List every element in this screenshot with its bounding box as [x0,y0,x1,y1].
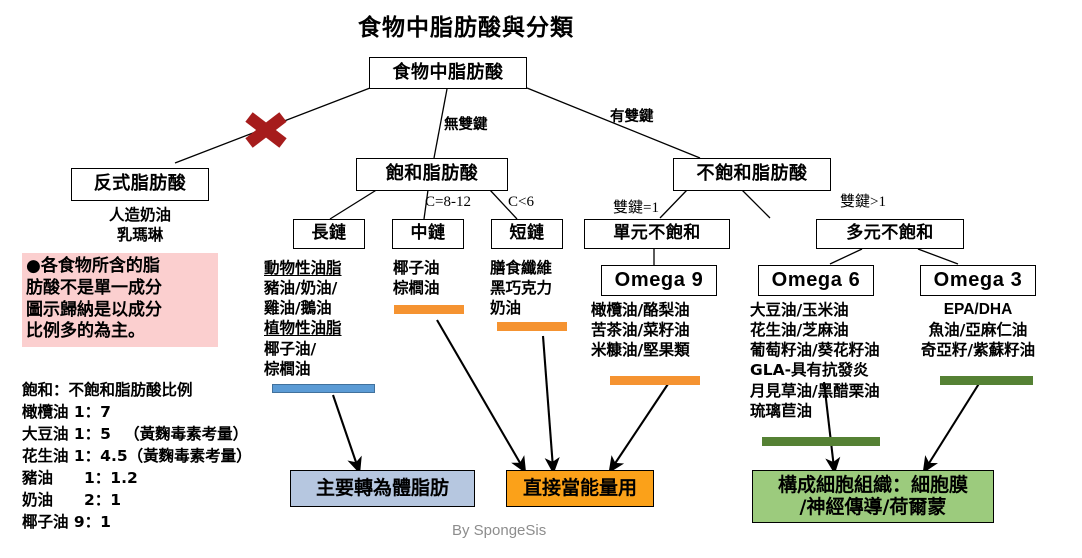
list-item: 黑巧克力 [490,278,552,298]
credit-watermark: By SpongeSis [452,522,546,539]
note-line: 肪酸不是單一成分 [26,278,212,300]
node-omega-9[interactable]: Omega 9 [601,265,717,296]
list-item: 棕櫚油 [264,359,342,379]
node-trans-fat[interactable]: 反式脂肪酸 [71,168,209,201]
outcome-line: 構成細胞組織：細胞膜 [778,475,968,497]
list-item: 膳食纖維 [490,258,552,278]
node-monounsaturated[interactable]: 單元不飽和 [584,219,730,249]
node-short-chain[interactable]: 短鏈 [491,219,563,249]
ratio-heading: 飽和：不飽和脂肪酸比例 [22,379,252,401]
omega-6-bar [762,437,880,446]
red-x-icon [240,110,292,150]
list-item: 月見草油/黑醋栗油 [750,381,880,401]
node-omega-3[interactable]: Omega 3 [920,265,1036,296]
list-item: 雞油/鵝油 [264,298,342,318]
list-item: 椰子油 [393,258,440,278]
omega-9-examples: 橄欖油/酪梨油 苦茶油/菜籽油 米糠油/堅果類 [591,300,690,360]
diagram-canvas: 食物中脂肪酸與分類 食物中脂肪酸 反式脂肪酸 飽和脂肪酸 不飽和脂肪酸 長鏈 中… [0,0,1082,558]
list-item: 人造奶油 [80,205,200,225]
omega-9-bar [610,376,700,385]
ratio-row: 奶油 2：1 [22,489,252,511]
ratio-row: 橄欖油 1：7 [22,401,252,423]
node-saturated[interactable]: 飽和脂肪酸 [356,158,508,191]
list-item: 奇亞籽/紫蘇籽油 [918,340,1038,360]
node-unsaturated[interactable]: 不飽和脂肪酸 [673,158,831,191]
list-item: 葡萄籽油/葵花籽油 [750,340,880,360]
ratio-row: 大豆油 1：5 （黃麴毒素考量） [22,423,252,445]
list-item: 花生油/芝麻油 [750,320,880,340]
omega-3-bar [940,376,1033,385]
long-chain-bar [272,384,375,393]
node-omega-6[interactable]: Omega 6 [758,265,874,296]
edge-label-double-bond-gt-1: 雙鍵>1 [840,190,886,211]
list-item: 豬油/奶油/ [264,278,342,298]
list-item: 奶油 [490,298,552,318]
short-chain-bar [497,322,567,331]
note-line: 圖示歸納是以成分 [26,300,212,322]
note-line: 比例多的為主。 [26,321,212,343]
list-item: 乳瑪琳 [80,225,200,245]
edge-label-no-double-bond: 無雙鍵 [444,113,488,134]
list-item: 米糠油/堅果類 [591,340,690,360]
outcome-body-fat[interactable]: 主要轉為體脂肪 [290,470,475,507]
page-title: 食物中脂肪酸與分類 [358,8,574,42]
list-item: GLA-具有抗發炎 [750,360,880,380]
node-long-chain[interactable]: 長鏈 [293,219,365,249]
list-item: 椰子油/ [264,339,342,359]
note-line: ●各食物所含的脂 [26,256,212,278]
medium-chain-examples: 椰子油 棕櫚油 [393,258,440,298]
long-chain-examples: 動物性油脂 豬油/奶油/ 雞油/鵝油 植物性油脂 椰子油/ 棕櫚油 [264,258,342,379]
list-item: 動物性油脂 [264,258,342,278]
list-item: 苦茶油/菜籽油 [591,320,690,340]
list-item: 橄欖油/酪梨油 [591,300,690,320]
list-item: EPA/DHA [918,300,1038,320]
edge-label-c-8-12: C=8-12 [425,194,471,211]
edge-label-has-double-bond: 有雙鍵 [610,105,654,126]
ratio-row: 花生油 1：4.5（黃麴毒素考量） [22,445,252,467]
edge-label-double-bond-eq-1: 雙鍵=1 [613,196,659,217]
ratio-list: 飽和：不飽和脂肪酸比例 橄欖油 1：7 大豆油 1：5 （黃麴毒素考量） 花生油… [22,379,252,533]
list-item: 大豆油/玉米油 [750,300,880,320]
note-box: ●各食物所含的脂 肪酸不是單一成分 圖示歸納是以成分 比例多的為主。 [22,253,218,347]
list-item: 植物性油脂 [264,318,342,338]
edge-label-c-lt-6: C<6 [508,194,534,211]
short-chain-examples: 膳食纖維 黑巧克力 奶油 [490,258,552,318]
omega-6-examples: 大豆油/玉米油 花生油/芝麻油 葡萄籽油/葵花籽油 GLA-具有抗發炎 月見草油… [750,300,880,421]
outcome-cell-structure[interactable]: 構成細胞組織：細胞膜 /神經傳導/荷爾蒙 [752,470,994,523]
outcome-line: /神經傳導/荷爾蒙 [800,497,947,519]
trans-fat-examples: 人造奶油 乳瑪琳 [80,205,200,245]
node-medium-chain[interactable]: 中鏈 [392,219,464,249]
ratio-row: 椰子油 9：1 [22,511,252,533]
ratio-row: 豬油 1：1.2 [22,467,252,489]
node-root[interactable]: 食物中脂肪酸 [369,57,527,89]
outcome-energy[interactable]: 直接當能量用 [506,470,654,507]
list-item: 魚油/亞麻仁油 [918,320,1038,340]
medium-chain-bar [394,305,464,314]
omega-3-examples: EPA/DHA 魚油/亞麻仁油 奇亞籽/紫蘇籽油 [918,300,1038,360]
list-item: 棕櫚油 [393,278,440,298]
list-item: 琉璃苣油 [750,401,880,421]
node-polyunsaturated[interactable]: 多元不飽和 [816,219,964,249]
